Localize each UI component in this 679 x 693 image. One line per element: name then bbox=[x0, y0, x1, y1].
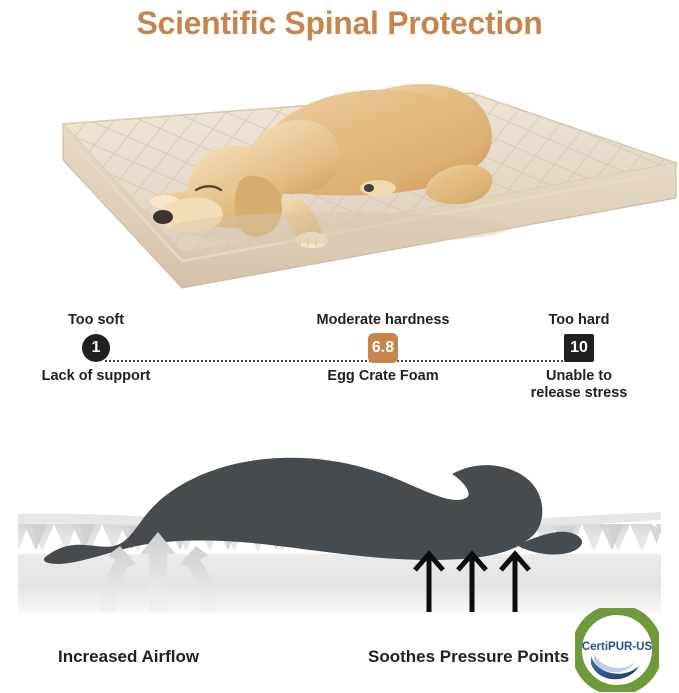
hero-product-image bbox=[0, 48, 679, 298]
dog-silhouette bbox=[44, 458, 582, 564]
scale-stop-bottom-label-line1: Unable to bbox=[484, 368, 674, 385]
scale-stop-bottom-label: Egg Crate Foam bbox=[288, 368, 478, 385]
scale-marker-1: 1 bbox=[82, 334, 110, 362]
scale-marker-10: 10 bbox=[564, 334, 594, 362]
scale-stop-top-label: Too soft bbox=[1, 312, 191, 329]
caption-increased-airflow: Increased Airflow bbox=[58, 647, 199, 667]
scale-stop-bottom-label-line2: release stress bbox=[484, 385, 674, 402]
badge-trademark-icon: ® bbox=[646, 641, 649, 646]
foam-cross-section-diagram bbox=[0, 424, 679, 634]
scale-stop-top-label: Moderate hardness bbox=[288, 312, 478, 329]
caption-soothes-pressure-points: Soothes Pressure Points bbox=[368, 647, 569, 667]
scale-stop-bottom-label: Lack of support bbox=[1, 368, 191, 385]
hardness-scale: Too soft 1 Lack of support Moderate hard… bbox=[0, 312, 679, 420]
scale-stop-top-label: Too hard bbox=[484, 312, 674, 329]
scale-stop-too-hard: Too hard 10 Unable to release stress bbox=[484, 312, 674, 402]
certipur-us-badge: CERTIFIED FLEXIBLE POLYURETHANE FOAM WWW… bbox=[575, 608, 659, 692]
badge-brand-text: CertiPUR-US bbox=[582, 641, 653, 653]
scale-stop-too-soft: Too soft 1 Lack of support bbox=[1, 312, 191, 385]
page-title: Scientific Spinal Protection bbox=[0, 0, 679, 46]
scale-marker-68: 6.8 bbox=[368, 333, 398, 363]
scale-stop-moderate: Moderate hardness 6.8 Egg Crate Foam bbox=[288, 312, 478, 385]
